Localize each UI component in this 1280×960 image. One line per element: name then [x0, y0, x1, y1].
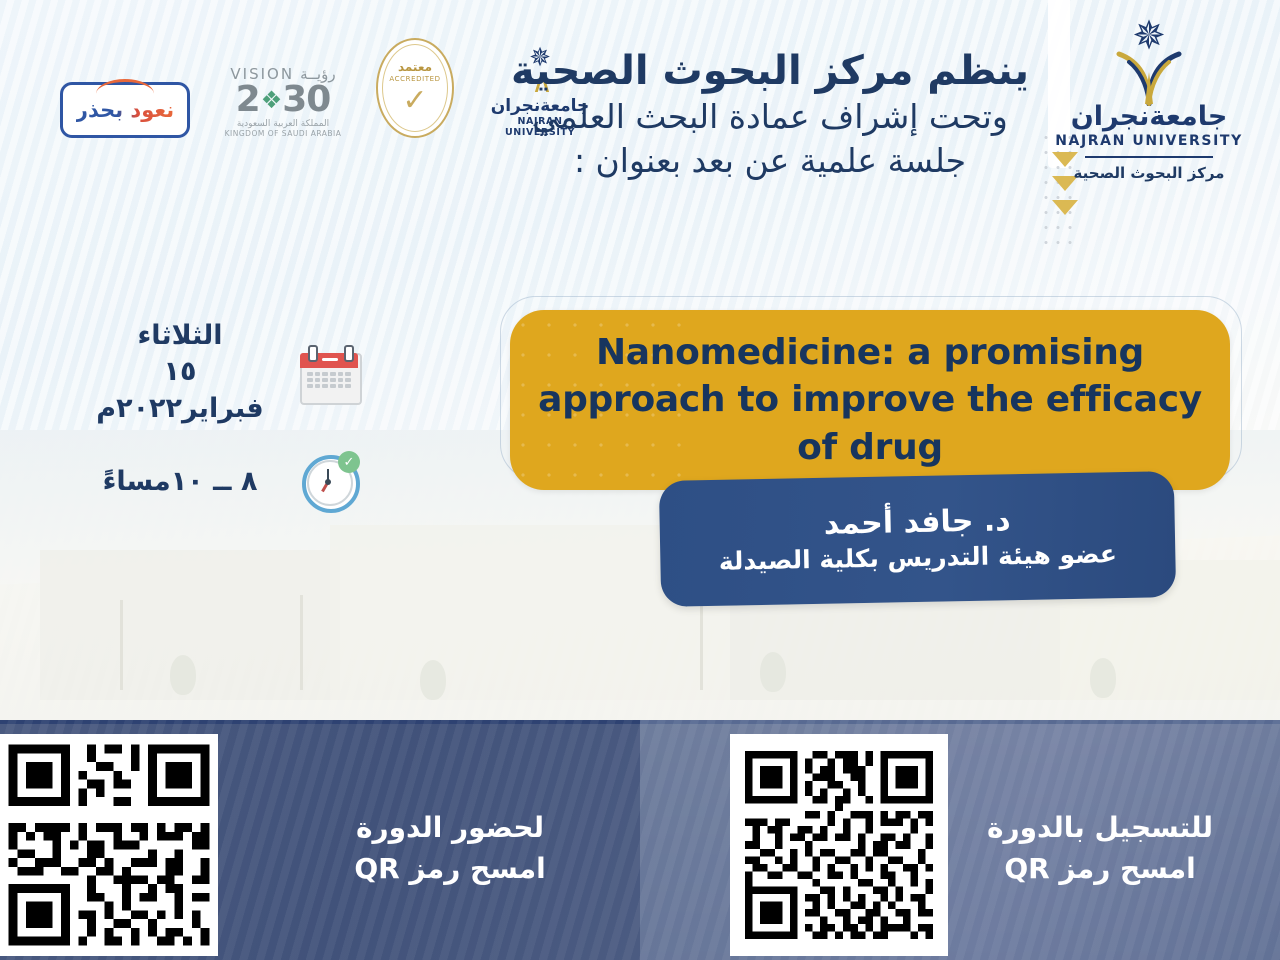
- logo-vision-2030: VISION رؤيــة 2 ❖ 30 المملكة العربية الس…: [224, 65, 342, 138]
- logo-naod-bihathar: نعود بحذر: [60, 82, 190, 138]
- campus-tree: [760, 652, 786, 692]
- session-title-text: Nanomedicine: a promising approach to im…: [510, 329, 1230, 472]
- event-time-row: ✓ ٨ ــ ١٠مساءً: [78, 453, 358, 511]
- logo-accreditation-seal: معتمد ACCREDITED ✓: [376, 38, 454, 138]
- speaker-name: د. جافد أحمد: [823, 502, 1011, 543]
- logo-najran-university-main: ✵ جامعةنجران NAJRAN UNIVERSITY مركز البح…: [1044, 22, 1254, 182]
- footer-register-line-2: امسح رمز QR: [985, 849, 1215, 890]
- footer-register-text: للتسجيل بالدورة امسح رمز QR: [985, 808, 1215, 889]
- qr-code-register[interactable]: [730, 734, 948, 956]
- header-line-3: جلسة علمية عن بعد بعنوان :: [510, 139, 1030, 184]
- palm-emblem-icon: ❖: [261, 89, 282, 112]
- speaker-card: د. جافد أحمد عضو هيئة التدريس بكلية الصي…: [659, 471, 1176, 607]
- calendar-icon: [300, 345, 358, 401]
- campus-lamp-post: [300, 595, 303, 690]
- speaker-role: عضو هيئة التدريس بكلية الصيدلة: [719, 538, 1118, 578]
- logo-divider: [1085, 156, 1213, 158]
- campus-tree: [170, 655, 196, 695]
- poster-canvas: نعود بحذر VISION رؤيــة 2 ❖ 30 المملكة ا…: [0, 0, 1280, 960]
- health-research-center-label: مركز البحوث الصحية: [1044, 164, 1254, 182]
- najran-main-en: NAJRAN UNIVERSITY: [1044, 133, 1254, 149]
- vision-kingdom-en: KINGDOM OF SAUDI ARABIA: [224, 129, 342, 138]
- qr-code-attend[interactable]: [0, 734, 218, 956]
- footer-attend-line-1: لحضور الدورة: [350, 808, 550, 849]
- clock-icon: ✓: [300, 453, 358, 511]
- footer-band: zoom لحضور الدورة امسح رمز QR للتسجيل با…: [0, 720, 1280, 960]
- event-date: ١٥ فبراير٢٠٢٢م: [78, 354, 282, 427]
- footer-register-line-1: للتسجيل بالدورة: [985, 808, 1215, 849]
- seal-inner-ring: [382, 44, 448, 132]
- star-burst-icon: ✵: [1044, 22, 1254, 50]
- session-title-card: Nanomedicine: a promising approach to im…: [510, 310, 1230, 490]
- vision-num-left: 2: [236, 83, 260, 117]
- header-line-1: ينظم مركز البحوث الصحية: [510, 46, 1030, 96]
- footer-attend-line-2: امسح رمز QR: [350, 849, 550, 890]
- event-datetime-block: الثلاثاء ١٥ فبراير٢٠٢٢م ✓ ٨ ــ ١٠مساءً: [78, 318, 358, 511]
- header-arabic-block: ينظم مركز البحوث الصحية وتحت إشراف عمادة…: [510, 46, 1030, 183]
- event-date-row: الثلاثاء ١٥ فبراير٢٠٢٢م: [78, 318, 358, 427]
- swoosh-icon: [96, 79, 154, 94]
- campus-tree: [420, 660, 446, 700]
- vision-number: 2 ❖ 30: [224, 83, 342, 117]
- vision-kingdom-ar: المملكة العربية السعودية: [224, 119, 342, 129]
- vision-num-right: 30: [282, 83, 330, 117]
- event-date-text: الثلاثاء ١٥ فبراير٢٠٢٢م: [78, 318, 282, 427]
- palm-fan-icon: [1044, 50, 1254, 102]
- najran-main-ar: جامعةنجران: [1044, 102, 1254, 132]
- footer-attend-text: لحضور الدورة امسح رمز QR: [350, 808, 550, 889]
- logo-naod-label: نعود بحذر: [76, 98, 174, 122]
- campus-tree: [1090, 658, 1116, 698]
- header-line-2: وتحت إشراف عمادة البحث العلمي: [510, 96, 1030, 139]
- event-time-text: ٨ ــ ١٠مساءً: [78, 464, 282, 500]
- chevron-down-icon: [1052, 200, 1078, 215]
- event-day: الثلاثاء: [78, 318, 282, 354]
- campus-lamp-post: [120, 600, 123, 690]
